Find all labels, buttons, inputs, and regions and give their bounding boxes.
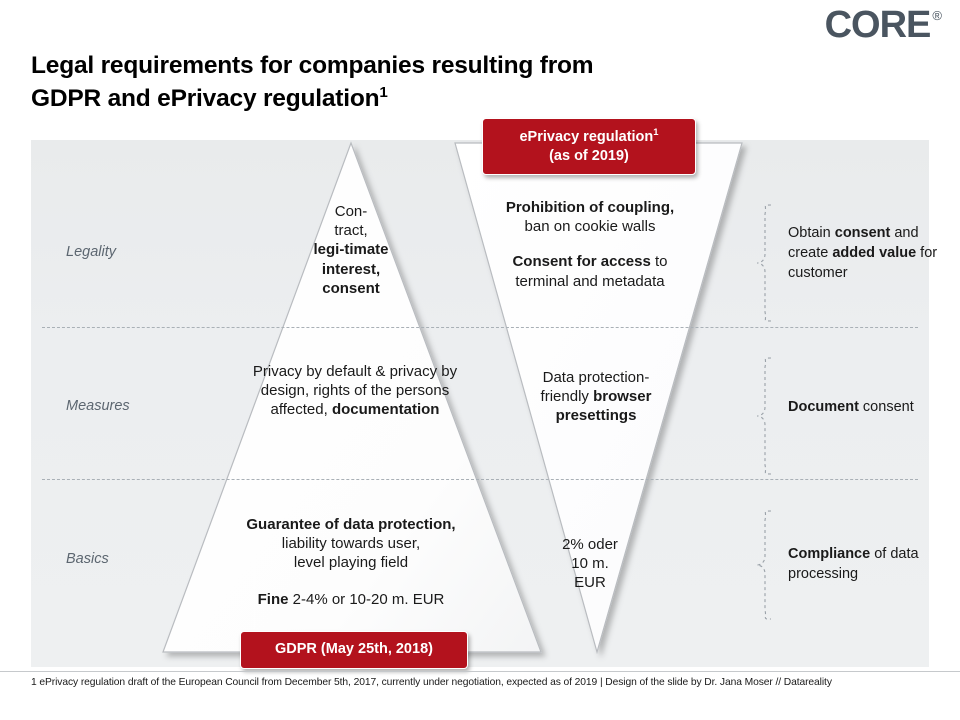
badge-eprivacy-line1: ePrivacy regulation <box>519 129 653 145</box>
outcome-measures-bold1: Document <box>788 399 859 415</box>
gdpr-basics-plain1: liability towards user, <box>282 535 420 552</box>
brace-basics <box>755 510 777 620</box>
row-separator-2 <box>42 479 918 480</box>
eprivacy-legality-text: Prohibition of coupling, ban on cookie w… <box>470 198 710 291</box>
outcome-legality-bold1: consent <box>835 225 891 241</box>
eprivacy-legality-bold1: Prohibition of coupling, <box>506 199 674 216</box>
eprivacy-basics-line3: EUR <box>574 574 606 591</box>
diagram-shapes <box>0 0 960 720</box>
outcome-legality-plain1: Obtain <box>788 225 835 241</box>
outcome-legality: Obtain consent and create added value fo… <box>788 223 940 283</box>
outcome-basics-bold1: Compliance <box>788 546 870 562</box>
gdpr-basics-fine-bold: Fine <box>258 591 289 608</box>
gdpr-basics-fine: Fine 2-4% or 10-20 m. EUR <box>216 590 486 609</box>
brace-legality <box>755 204 777 322</box>
badge-eprivacy-regulation[interactable]: ePrivacy regulation1 (as of 2019) <box>482 118 696 175</box>
footnote-text: 1 ePrivacy regulation draft of the Europ… <box>31 677 931 688</box>
badge-eprivacy-line2: (as of 2019) <box>549 148 629 164</box>
gdpr-measures-text: Privacy by default & privacy by design, … <box>250 362 460 420</box>
gdpr-basics-fine-plain: 2-4% or 10-20 m. EUR <box>293 591 445 608</box>
eprivacy-measures-text: Data protection- friendly browser preset… <box>512 368 680 426</box>
eprivacy-legality-para2: Consent for access to terminal and metad… <box>470 252 710 290</box>
eprivacy-basics-line2: 10 m. <box>571 555 609 572</box>
gdpr-legality-bold: legi-timate interest, consent <box>313 241 388 296</box>
gdpr-basics-bold1: Guarantee of data protection, <box>246 516 455 533</box>
eprivacy-legality-plain3: terminal and metadata <box>515 273 664 290</box>
outcome-measures: Document consent <box>788 397 940 417</box>
eprivacy-legality-para1: Prohibition of coupling, ban on cookie w… <box>470 198 710 236</box>
gdpr-measures-bold: documentation <box>332 401 440 418</box>
eprivacy-measures-plain2: friendly <box>541 388 589 405</box>
eprivacy-legality-bold2: Consent for access <box>512 253 650 270</box>
eprivacy-basics-line1: 2% oder <box>562 536 618 553</box>
row-label-measures: Measures <box>66 398 206 414</box>
eprivacy-legality-plain2: to <box>655 253 668 270</box>
outcome-basics: Compliance of data processing <box>788 544 940 584</box>
row-separator-1 <box>42 327 918 328</box>
outcome-legality-bold2: added value <box>832 245 916 261</box>
footer-divider <box>0 671 960 672</box>
gdpr-legality-plain2: tract, <box>334 222 367 239</box>
eprivacy-measures-plain1: Data protection- <box>543 369 650 386</box>
eprivacy-legality-plain1: ban on cookie walls <box>525 218 656 235</box>
badge-gdpr[interactable]: GDPR (May 25th, 2018) <box>240 631 468 669</box>
outcome-measures-plain1: consent <box>859 399 914 415</box>
gdpr-legality-plain1: Con- <box>335 203 368 220</box>
gdpr-legality-text: Con- tract, legi-timate interest, consen… <box>296 202 406 298</box>
brace-measures <box>755 357 777 475</box>
row-label-basics: Basics <box>66 551 206 567</box>
eprivacy-basics-text: 2% oder 10 m. EUR <box>540 535 640 593</box>
gdpr-basics-text: Guarantee of data protection, liability … <box>216 515 486 609</box>
badge-eprivacy-marker: 1 <box>653 126 658 137</box>
badge-gdpr-label: GDPR (May 25th, 2018) <box>275 641 433 657</box>
row-label-legality: Legality <box>66 244 206 260</box>
slide-root: CORE ® Legal requirements for companies … <box>0 0 960 720</box>
gdpr-basics-plain2: level playing field <box>294 554 408 571</box>
